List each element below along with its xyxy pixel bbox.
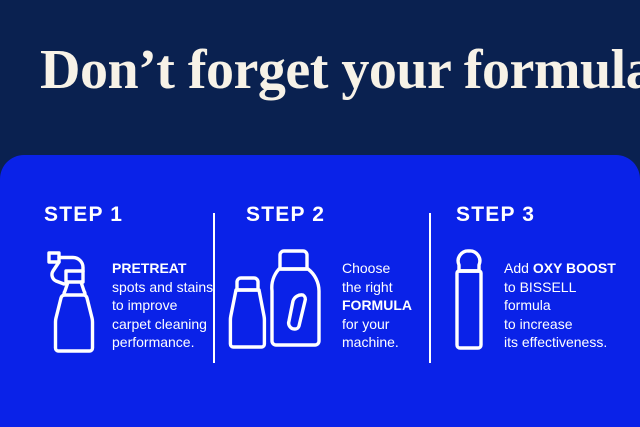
page-title: Don’t forget your formula: [40, 40, 620, 100]
step-2-title: STEP 2: [246, 203, 325, 227]
step-3-text: Add OXY BOOST to BISSELL formula to incr…: [504, 259, 616, 352]
step-3-line-1-prefix: Add: [504, 260, 533, 276]
step-2-line-1: Choose: [342, 259, 412, 278]
step-1-body: PRETREAT spots and stains to improve car…: [40, 247, 213, 355]
step-3-line-3: formula: [504, 296, 616, 315]
step-3-line-4: to increase: [504, 315, 616, 334]
step-3-line-5: its effectiveness.: [504, 333, 616, 352]
step-2-line-3: FORMULA: [342, 297, 412, 313]
step-item-3: STEP 3 Add OXY: [430, 155, 640, 427]
step-3-body: Add OXY BOOST to BISSELL formula to incr…: [452, 245, 616, 352]
step-1-line-4: carpet cleaning: [112, 315, 213, 334]
step-2-text: Choose the right FORMULA for your machin…: [342, 259, 412, 352]
step-2-line-5: machine.: [342, 333, 412, 352]
step-3-title: STEP 3: [456, 203, 535, 227]
spray-bottle-icon: [40, 247, 96, 355]
step-item-1: STEP 1: [0, 155, 214, 427]
step-1-text: PRETREAT spots and stains to improve car…: [112, 259, 213, 352]
steps-panel: STEP 1: [0, 155, 640, 427]
step-3-line-1-strong: OXY BOOST: [533, 260, 616, 276]
detergent-bottles-icon: [224, 245, 328, 351]
step-2-line-4: for your: [342, 315, 412, 334]
step-1-line-3: to improve: [112, 296, 213, 315]
step-1-title: STEP 1: [44, 203, 123, 227]
step-1-line-2: spots and stains: [112, 278, 213, 297]
step-2-body: Choose the right FORMULA for your machin…: [224, 245, 412, 352]
step-2-line-2: the right: [342, 278, 412, 297]
poster-root: Don’t forget your formula STEP 1: [0, 0, 640, 427]
step-1-line-1: PRETREAT: [112, 260, 186, 276]
oxy-boost-bottle-icon: [452, 245, 486, 351]
step-item-2: STEP 2: [214, 155, 430, 427]
step-1-line-5: performance.: [112, 333, 213, 352]
step-3-line-2: to BISSELL: [504, 278, 616, 297]
steps-list: STEP 1: [0, 155, 640, 427]
